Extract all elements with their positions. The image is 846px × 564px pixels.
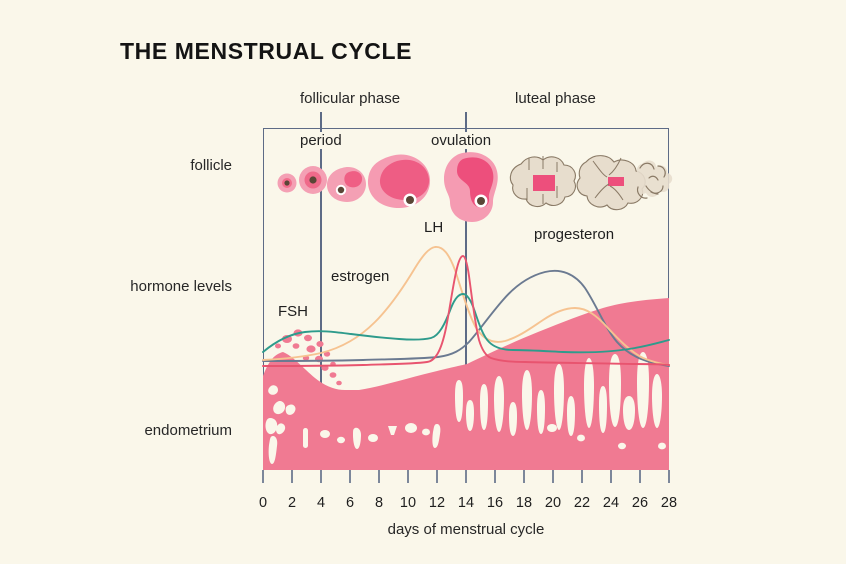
curve-label-estrogen: estrogen <box>331 268 389 285</box>
x-axis-tick-label: 0 <box>259 495 267 511</box>
row-label-follicle: follicle <box>190 157 232 174</box>
x-axis-tick-label: 16 <box>487 495 503 511</box>
follicle-primary-icon <box>299 166 327 194</box>
x-axis-tick-label: 6 <box>346 495 354 511</box>
corpus-luteum-early-icon <box>510 156 575 206</box>
phase-label-luteal: luteal phase <box>515 90 596 107</box>
x-axis-tick-label: 4 <box>317 495 325 511</box>
x-axis-tick-label: 28 <box>661 495 677 511</box>
x-axis-ticks <box>263 470 669 484</box>
x-axis-tick-label: 24 <box>603 495 619 511</box>
follicle-antral-icon <box>368 155 430 208</box>
chart-graphics <box>263 128 669 470</box>
x-axis-tick-label: 20 <box>545 495 561 511</box>
follicle-illustrations <box>278 152 673 222</box>
phase-label-follicular: follicular phase <box>300 90 400 107</box>
x-axis-tick-label: 14 <box>458 495 474 511</box>
curve-label-fsh: FSH <box>278 303 308 320</box>
curve-label-progesteron: progesteron <box>534 226 614 243</box>
page-title: THE MENSTRUAL CYCLE <box>120 38 412 65</box>
x-axis-tick-label: 10 <box>400 495 416 511</box>
follicle-secondary-icon <box>327 167 366 202</box>
x-axis-tick-label: 26 <box>632 495 648 511</box>
corpus-albicans-icon <box>632 160 672 198</box>
row-label-endometrium: endometrium <box>144 422 232 439</box>
follicle-primordial-icon <box>278 174 297 193</box>
x-axis-title: days of menstrual cycle <box>263 521 669 538</box>
x-axis-tick-label: 12 <box>429 495 445 511</box>
row-label-hormone-levels: hormone levels <box>130 278 232 295</box>
x-axis-tick-label: 8 <box>375 495 383 511</box>
endometrium-illustration <box>263 298 669 470</box>
infographic-root: THE MENSTRUAL CYCLE follicular phase lut… <box>0 0 846 564</box>
follicle-ovulation-icon <box>444 152 498 222</box>
x-axis-tick-label: 22 <box>574 495 590 511</box>
x-axis-tick-label: 18 <box>516 495 532 511</box>
curve-label-lh: LH <box>424 219 443 236</box>
x-axis-tick-label: 2 <box>288 495 296 511</box>
